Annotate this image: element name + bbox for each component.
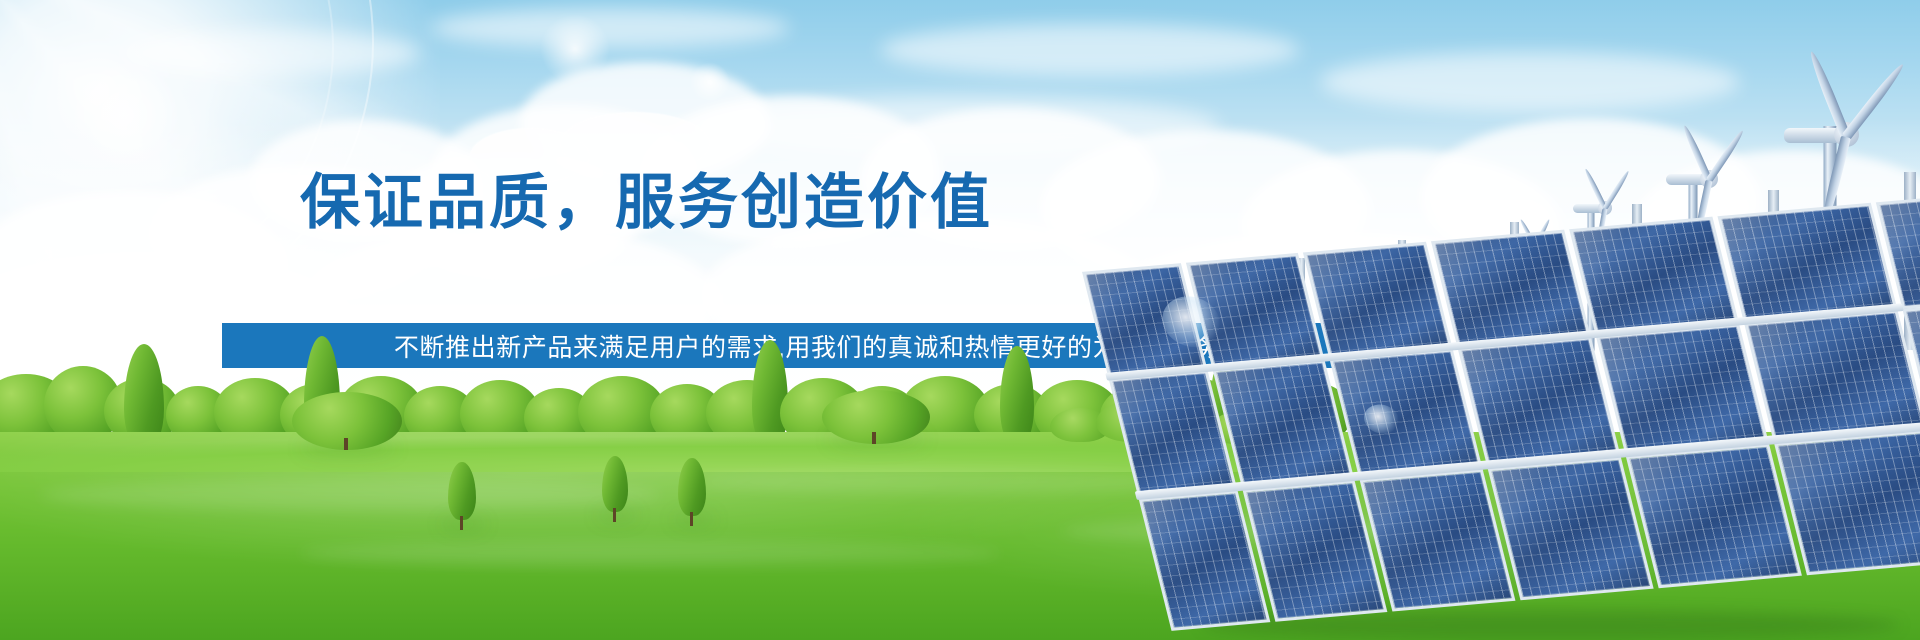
- tree-trunk: [690, 512, 693, 526]
- solar-cell-block: [1488, 457, 1654, 601]
- page-title: 保证品质，服务创造价值: [300, 172, 1020, 234]
- cypress-tree: [1000, 346, 1034, 446]
- cloud-wisp: [1320, 52, 1740, 112]
- hero-banner: 保证品质，服务创造价值 不断推出新产品来满足用户的需求,用我们的真诚和热情更好的…: [0, 0, 1920, 640]
- meadow-highlight: [40, 480, 660, 510]
- solar-cell-block: [1596, 323, 1769, 456]
- cloud-wisp: [430, 8, 790, 48]
- solar-cell-block: [1303, 242, 1453, 359]
- meadow-tree-large: [822, 390, 930, 444]
- tree-trunk: [613, 508, 616, 522]
- tree-trunk: [460, 516, 463, 530]
- meadow-highlight: [300, 540, 1000, 566]
- turbine-blade: [1842, 61, 1907, 140]
- solar-cell-block: [1213, 360, 1355, 490]
- solar-panel-array: [1180, 252, 1920, 640]
- tree-trunk: [872, 432, 876, 444]
- solar-cell-block: [1626, 444, 1802, 588]
- solar-cell-block: [1458, 336, 1621, 468]
- solar-cell-block: [1744, 310, 1920, 444]
- cloud-wisp: [880, 24, 1300, 76]
- solar-cell-block: [1569, 217, 1739, 336]
- cloud-highlight: [560, 112, 710, 176]
- solar-panel-surface: [1086, 196, 1920, 640]
- solar-cell-block: [1330, 348, 1483, 479]
- tree-trunk: [344, 438, 348, 450]
- cloud-wisp: [120, 30, 420, 76]
- solar-cell-block: [1431, 230, 1591, 348]
